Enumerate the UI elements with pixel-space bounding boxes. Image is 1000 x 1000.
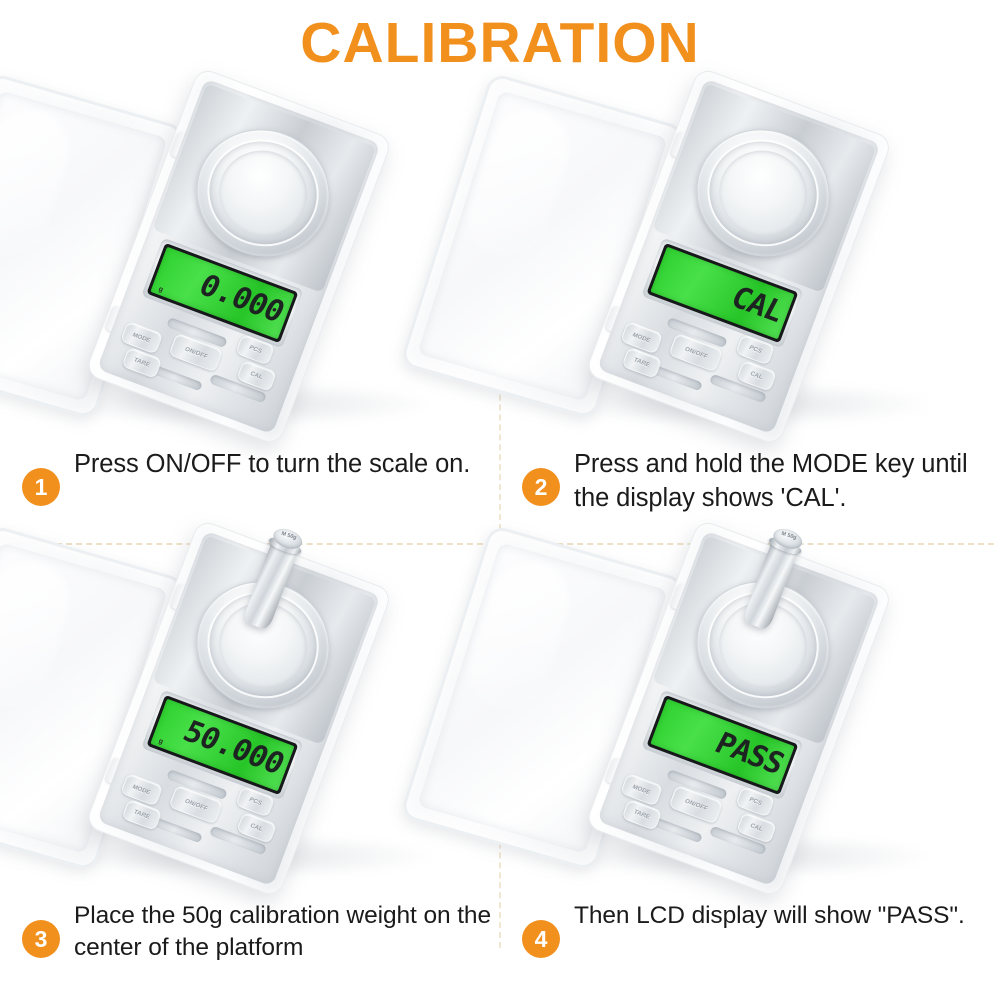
step-caption-1: 1 Press ON/OFF to turn the scale on. [22, 448, 494, 506]
tare-key[interactable]: TARE [621, 799, 662, 831]
step-badge: 2 [522, 468, 560, 506]
page-title: CALIBRATION [0, 14, 1000, 74]
step-panel-2: M 50g CAL [500, 96, 1000, 548]
mode-key[interactable]: MODE [620, 321, 663, 355]
step-text: Press and hold the MODE key until the di… [574, 448, 994, 515]
scale-photo-2: M 50g CAL [500, 96, 1000, 446]
tare-key[interactable]: TARE [121, 799, 162, 831]
step-caption-2: 2 Press and hold the MODE key until the … [522, 448, 994, 515]
lcd-unit-label: g [158, 286, 164, 294]
mode-key[interactable]: MODE [120, 321, 163, 355]
step-badge: 4 [522, 920, 560, 958]
weighing-platform [678, 110, 848, 275]
step-caption-4: 4 Then LCD display will show "PASS". [522, 900, 994, 958]
tare-key[interactable]: TARE [621, 347, 662, 379]
lcd-unit-label: g [158, 738, 164, 746]
lcd-value: PASS [710, 729, 788, 780]
step-caption-3: 3 Place the 50g calibration weight on th… [22, 900, 494, 965]
lcd-value: CAL [726, 283, 788, 328]
scale-photo-1: M 50g 0.000 g [0, 96, 500, 446]
step-text: Place the 50g calibration weight on the … [74, 900, 494, 965]
mode-key[interactable]: MODE [620, 773, 663, 807]
step-badge: 3 [22, 920, 60, 958]
scale-photo-4: M 50g PASS [500, 548, 1000, 898]
step-text: Press ON/OFF to turn the scale on. [74, 448, 470, 482]
step-badge: 1 [22, 468, 60, 506]
step-panel-4: M 50g PASS [500, 548, 1000, 1000]
scale-photo-3: M 50g 50.000 g [0, 548, 500, 898]
step-text: Then LCD display will show "PASS". [574, 900, 965, 932]
weighing-platform [178, 110, 348, 275]
lcd-value: 0.000 [194, 271, 288, 328]
mode-key[interactable]: MODE [120, 773, 163, 807]
tare-key[interactable]: TARE [121, 347, 162, 379]
